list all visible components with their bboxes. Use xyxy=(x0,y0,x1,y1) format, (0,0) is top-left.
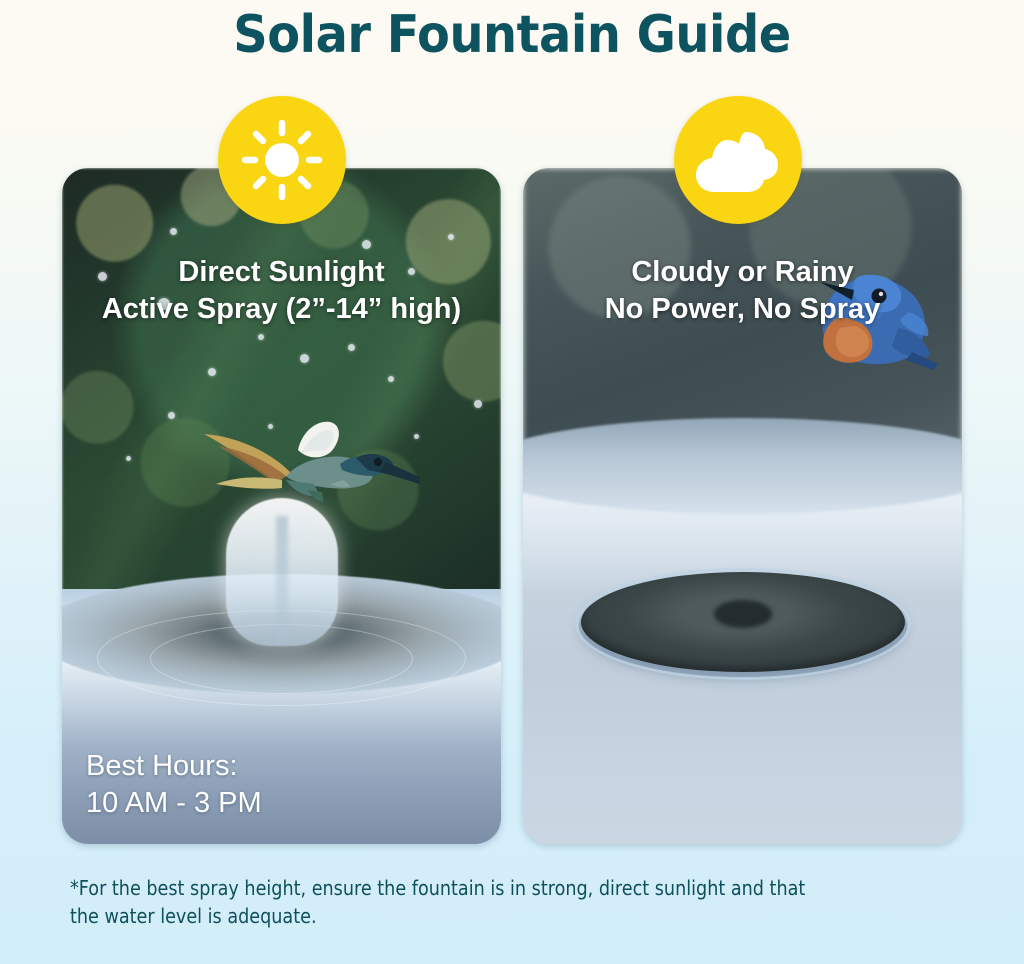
page-title: Solar Fountain Guide xyxy=(41,6,983,66)
water-droplet xyxy=(168,412,175,419)
comparison-panels: Direct Sunlight Active Spray (2”-14” hig… xyxy=(62,168,962,844)
sun-badge xyxy=(218,96,346,224)
water-droplet xyxy=(448,234,454,240)
water-droplet xyxy=(300,354,309,363)
water-droplet xyxy=(388,376,394,382)
panel-cloudy-caption: Cloudy or Rainy No Power, No Spray xyxy=(523,254,962,327)
water-droplet xyxy=(258,334,264,340)
panel-cloudy-caption-line1: Cloudy or Rainy xyxy=(529,254,956,291)
panel-sunny-caption-line1: Direct Sunlight xyxy=(68,254,495,291)
cloud-badge xyxy=(674,96,802,224)
panel-sunny-caption-line2: Active Spray (2”-14” high) xyxy=(68,291,495,328)
panel-sunny: Direct Sunlight Active Spray (2”-14” hig… xyxy=(62,168,501,844)
basin-rim xyxy=(523,418,962,514)
panel-cloudy-caption-line2: No Power, No Spray xyxy=(529,291,956,328)
footnote-text: *For the best spray height, ensure the f… xyxy=(70,874,853,931)
best-hours-value: 10 AM - 3 PM xyxy=(86,785,262,822)
solar-panel-nozzle xyxy=(714,600,772,628)
best-hours-block: Best Hours: 10 AM - 3 PM xyxy=(86,748,262,822)
panel-sunny-caption: Direct Sunlight Active Spray (2”-14” hig… xyxy=(62,254,501,327)
water-droplet xyxy=(362,240,371,249)
best-hours-label: Best Hours: xyxy=(86,748,262,785)
sun-icon xyxy=(241,119,323,201)
fountain-spray-split xyxy=(276,516,288,646)
hummingbird-illustration xyxy=(190,406,420,526)
birdbath-basin xyxy=(523,444,962,844)
water-droplet xyxy=(348,344,355,351)
water-droplet xyxy=(474,400,482,408)
panel-cloudy: Cloudy or Rainy No Power, No Spray xyxy=(523,168,962,844)
water-droplet xyxy=(126,456,131,461)
water-droplet xyxy=(208,368,216,376)
cloud-icon xyxy=(694,124,782,196)
water-droplet xyxy=(170,228,177,235)
